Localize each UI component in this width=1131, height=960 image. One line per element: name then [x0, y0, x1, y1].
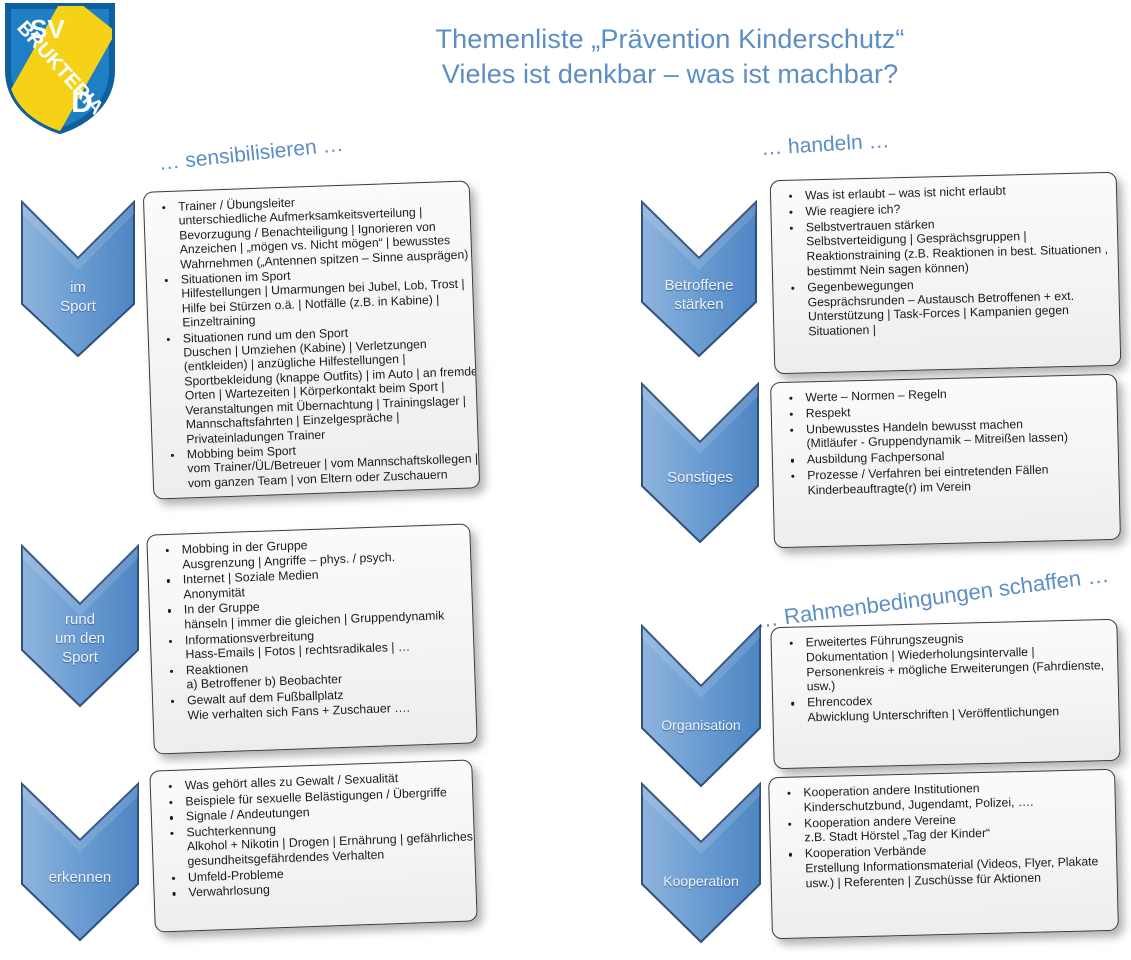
- card-organisation: Erweitertes FührungszeugnisDokumentation…: [770, 619, 1120, 769]
- card-organisation-list: Erweitertes FührungszeugnisDokumentation…: [786, 628, 1113, 727]
- list-item-head: Respekt: [806, 405, 851, 420]
- card-betroffene-staerken: Was ist erlaubt – was ist nicht erlaubtW…: [770, 172, 1122, 374]
- chevron-erkennen[interactable]: erkennen: [14, 778, 146, 940]
- card-sonstiges: Werte – Normen – RegelnRespekt Unbewusst…: [770, 374, 1121, 548]
- card-sonstiges-list: Werte – Normen – RegelnRespekt Unbewusst…: [785, 383, 1113, 499]
- card-rund-um-den-sport: Mobbing in der GruppeAusgrenzung | Angri…: [146, 523, 477, 754]
- card-erkennen: Was gehört alles zu Gewalt / SexualitätB…: [149, 759, 477, 932]
- section-label-sensibilisieren: … sensibilisieren …: [157, 133, 344, 176]
- section-label-handeln: … handeln …: [761, 129, 891, 161]
- list-item: Situationen rund um den SportDuschen | U…: [163, 321, 472, 447]
- chevron-betroffene-staerken[interactable]: Betroffenestärken: [634, 196, 764, 356]
- card-erkennen-list: Was gehört alles zu Gewalt / SexualitätB…: [165, 769, 470, 902]
- list-item-head: Verwahrlosung: [188, 883, 270, 900]
- list-item: Selbstvertrauen stärkenSelbstverteidigun…: [786, 213, 1112, 280]
- list-item: Erweitertes FührungszeugnisDokumentation…: [786, 628, 1112, 695]
- chevron-sonstiges[interactable]: Sonstiges: [634, 378, 766, 542]
- slide-title: Themenliste „Prävention Kinderschutz“ Vi…: [300, 22, 1040, 92]
- card-im-sport: Trainer / Übungsleiterunterschiedliche A…: [143, 180, 481, 499]
- list-item-head: Reaktionen: [186, 661, 249, 677]
- list-item: GegenbewegungenGesprächsrunden – Austaus…: [787, 273, 1113, 340]
- title-line-1: Themenliste „Prävention Kinderschutz“: [436, 24, 905, 54]
- title-line-2: Vieles ist denkbar – was ist machbar?: [300, 57, 1040, 92]
- chevron-rund-um-den-sport[interactable]: rund um den Sport: [14, 540, 146, 706]
- list-item-head: Umfeld-Probleme: [188, 867, 284, 884]
- card-im-sport-list: Trainer / Übungsleiterunterschiedliche A…: [158, 190, 473, 493]
- list-item-head: Ehrencodex: [807, 694, 872, 710]
- list-item-head: Ausbildung Fachpersonal: [807, 449, 945, 466]
- list-item: Kooperation VerbändeErstellung Informati…: [785, 839, 1111, 891]
- card-rund-list: Mobbing in der GruppeAusgrenzung | Angri…: [162, 533, 470, 725]
- list-item-head: Wie reagiere ich?: [805, 202, 900, 218]
- card-betroffene-list: Was ist erlaubt – was ist nicht erlaubtW…: [785, 181, 1114, 341]
- list-item-head: Gegenbewegungen: [807, 278, 914, 295]
- card-kooperation: Kooperation andere InstitutionenKindersc…: [768, 769, 1119, 939]
- list-item-head: Werte – Normen – Regeln: [805, 387, 947, 404]
- list-item: Trainer / Übungsleiterunterschiedliche A…: [158, 190, 465, 273]
- list-item: Situationen im SportHilfestellungen | Um…: [161, 263, 468, 331]
- card-kooperation-list: Kooperation andere InstitutionenKindersc…: [783, 778, 1111, 892]
- slide-canvas: SV D BRUKTERIA Themenliste „Prävention K…: [0, 0, 1131, 960]
- chevron-kooperation[interactable]: Kooperation: [634, 778, 768, 942]
- club-logo: SV D BRUKTERIA: [4, 2, 116, 134]
- list-item: Mobbing beim Sportvom Trainer/ÜL/Betreue…: [167, 437, 473, 491]
- chevron-organisation[interactable]: Organisation: [634, 620, 768, 786]
- chevron-im-sport[interactable]: imSport: [14, 196, 142, 356]
